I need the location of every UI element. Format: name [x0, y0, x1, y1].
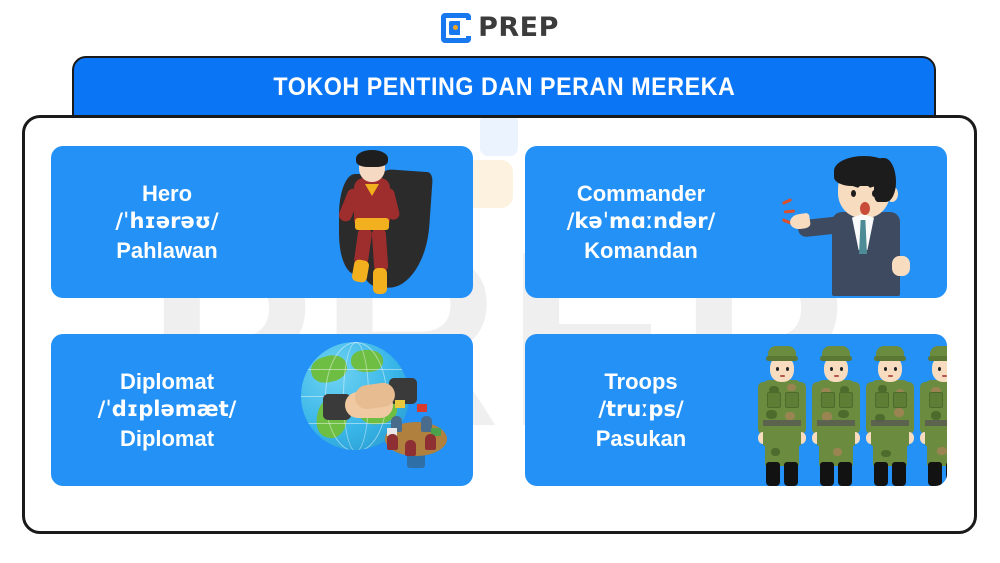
vocab-card-commander-art — [757, 146, 947, 298]
superhero-illustration-icon — [321, 148, 436, 298]
vocab-translation: Diplomat — [51, 424, 283, 453]
vocab-term: Hero — [51, 179, 283, 208]
vocab-ipa: /kəˈmɑːndər/ — [525, 208, 757, 236]
vocab-term: Diplomat — [51, 367, 283, 396]
vocab-card-troops-art — [757, 334, 947, 486]
vocab-ipa: /ˈhɪərəʊ/ — [51, 208, 283, 236]
prep-bracket-logo-icon — [441, 13, 471, 43]
vocabulary-card-grid: Hero /ˈhɪərəʊ/ Pahlawan — [51, 146, 951, 500]
vocab-card-troops-text: Troops /truːps/ Pasukan — [525, 367, 757, 453]
vocab-translation: Komandan — [525, 236, 757, 265]
vocab-term: Commander — [525, 179, 757, 208]
soldier-figure — [811, 344, 861, 486]
vocab-ipa: /truːps/ — [525, 396, 757, 424]
header-banner: TOKOH PENTING DAN PERAN MEREKA — [72, 56, 936, 118]
vocab-card-diplomat-text: Diplomat /ˈdɪpləmæt/ Diplomat — [51, 367, 283, 453]
soldier-figure — [919, 344, 947, 486]
vocab-ipa: /ˈdɪpləmæt/ — [51, 396, 283, 424]
globe-handshake-illustration-icon — [293, 336, 463, 486]
vocab-translation: Pasukan — [525, 424, 757, 453]
logo-wordmark: PREP — [478, 12, 559, 43]
content-panel: PREP Hero /ˈhɪərəʊ/ Pahlawan — [22, 115, 977, 534]
vocab-card-troops[interactable]: Troops /truːps/ Pasukan — [525, 334, 947, 486]
vocab-card-hero[interactable]: Hero /ˈhɪərəʊ/ Pahlawan — [51, 146, 473, 298]
vocab-card-hero-text: Hero /ˈhɪərəʊ/ Pahlawan — [51, 179, 283, 265]
soldier-figure — [865, 344, 915, 486]
soldier-figure — [757, 344, 807, 486]
vocab-card-diplomat-art — [283, 334, 473, 486]
prep-logo: PREP — [441, 12, 559, 43]
four-soldiers-illustration-icon — [757, 336, 947, 486]
vocab-card-commander[interactable]: Commander /kəˈmɑːndər/ Komandan — [525, 146, 947, 298]
vocab-translation: Pahlawan — [51, 236, 283, 265]
vocab-card-commander-text: Commander /kəˈmɑːndər/ Komandan — [525, 179, 757, 265]
vocab-card-diplomat[interactable]: Diplomat /ˈdɪpləmæt/ Diplomat — [51, 334, 473, 486]
commander-pointing-illustration-icon — [782, 148, 922, 298]
brand-logo-bar: PREP — [0, 0, 1000, 55]
page-title: TOKOH PENTING DAN PERAN MEREKA — [273, 73, 735, 102]
vocab-card-hero-art — [283, 146, 473, 298]
vocab-term: Troops — [525, 367, 757, 396]
